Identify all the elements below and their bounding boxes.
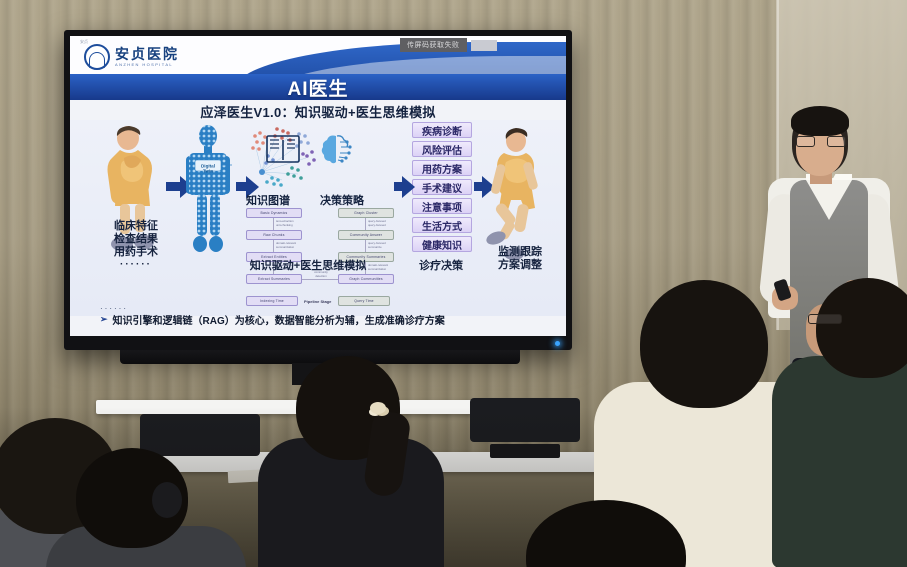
glasses-icon	[796, 136, 846, 147]
decision-strategy-label: 决策策略	[320, 192, 364, 208]
cast-code-placeholder-box	[471, 40, 497, 51]
flow-node: Basic Dynamics	[246, 208, 302, 218]
output-item: 疾病诊断	[412, 122, 472, 138]
open-book-icon	[266, 134, 300, 164]
caption-input: 临床特征 检查结果 用药手术 ······	[98, 220, 174, 271]
cast-code-banner-text: 传屏码获取失败	[400, 38, 467, 52]
attendee-green-jacket-torso	[772, 356, 907, 567]
glasses-icon	[808, 314, 842, 324]
caption-followup-line-2: 方案调整	[482, 259, 558, 272]
pearl-hair-clip-icon	[370, 402, 386, 414]
knowledge-graph-label: 知识图谱	[246, 192, 290, 208]
bullet-marker-icon: ➢	[100, 314, 108, 325]
slide-subtitle: 应泽医生V1.0：知识驱动+医生思维模拟	[70, 102, 566, 121]
cast-code-banner: 传屏码获取失败	[400, 38, 497, 52]
bullet-text: 知识引擎和逻辑链（RAG）为核心，数据智能分析为辅，生成准确诊疗方案	[113, 312, 445, 327]
attendee-ponytail	[252, 356, 452, 567]
flow-node: Graph Cluster	[338, 208, 394, 218]
output-item: 手术建议	[412, 179, 472, 195]
slide-title: AI医生	[287, 74, 348, 101]
flow-legend-item: Pipeline Stage	[304, 299, 331, 304]
caption-input-line-3: 用药手术	[98, 246, 174, 259]
flow-legend-item: Indexing Time	[246, 296, 298, 306]
presenter-hair-top	[791, 106, 849, 136]
conference-room-scene: 安贞 安贞医院 ANZHEN HOSPITAL 传屏码获取失败 AI医生 应泽医…	[0, 0, 907, 567]
presentation-display[interactable]: 安贞 安贞医院 ANZHEN HOSPITAL 传屏码获取失败 AI医生 应泽医…	[64, 30, 572, 350]
attendee-left-headphones	[60, 448, 220, 567]
attendee-cream-sweater-head	[640, 280, 768, 408]
svg-text:Twin: Twin	[203, 169, 213, 174]
slide-bullet-row: ➢ 知识引擎和逻辑链（RAG）为核心，数据智能分析为辅，生成准确诊疗方案	[70, 312, 566, 327]
caption-engine: 知识驱动+医生思维模拟	[218, 260, 398, 273]
hospital-name-cn: 安贞医院	[115, 47, 179, 61]
output-item: 风险评估	[412, 141, 472, 157]
caption-decision: 诊疗决策	[406, 260, 476, 273]
hospital-logo: 安贞医院 ANZHEN HOSPITAL	[84, 44, 179, 70]
output-item: 用药方案	[412, 160, 472, 176]
caption-followup: 监测跟踪 方案调整	[482, 246, 558, 272]
power-led-icon	[555, 341, 560, 346]
hospital-emblem-icon	[84, 44, 110, 70]
output-item: 注意事项	[412, 198, 472, 214]
attendee-front-center-head	[526, 500, 686, 567]
caption-input-ellipsis: ······	[98, 259, 174, 271]
attendee-green-jacket-head	[816, 278, 907, 378]
flow-legend-item: Query Time	[338, 296, 390, 306]
hospital-logo-text: 安贞医院 ANZHEN HOSPITAL	[115, 47, 179, 67]
diagram-captions: 临床特征 检查结果 用药手术 ······ 知识驱动+医生思维模拟 诊疗决策 监…	[70, 222, 566, 284]
slide-title-bar: AI医生	[70, 74, 566, 100]
attendee-front-center	[486, 500, 736, 567]
attendee-green-jacket	[788, 278, 907, 567]
caption-input-line-1: 临床特征	[98, 220, 174, 233]
slide-diagram: Digital Twin	[70, 120, 566, 316]
hospital-name-en: ANZHEN HOSPITAL	[115, 63, 179, 67]
slide-canvas: 安贞 安贞医院 ANZHEN HOSPITAL 传屏码获取失败 AI医生 应泽医…	[70, 36, 566, 336]
ai-brain-icon	[320, 132, 354, 166]
headphone-icon	[152, 482, 182, 518]
caption-followup-line-1: 监测跟踪	[482, 246, 558, 259]
caption-input-line-2: 检查结果	[98, 233, 174, 246]
